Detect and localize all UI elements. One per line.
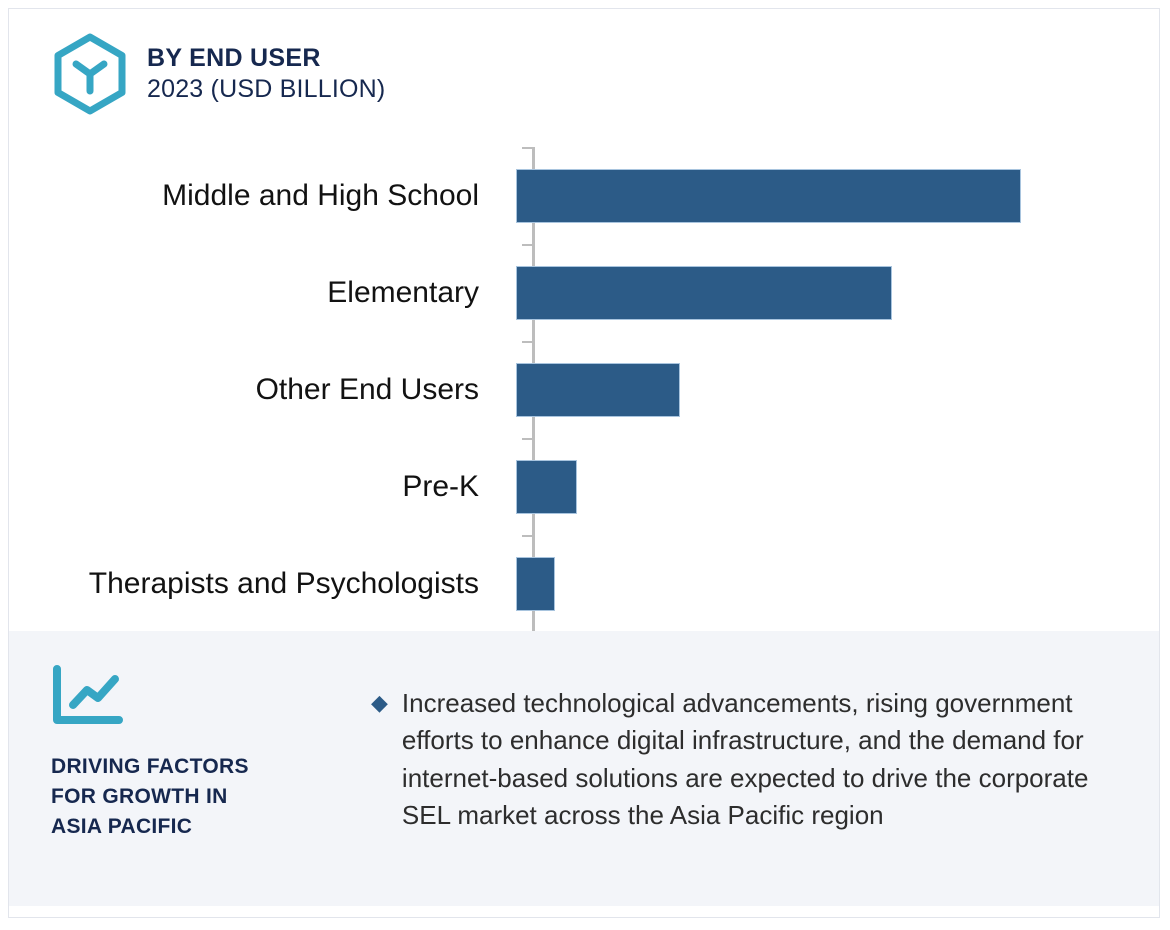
header-text-block: BY END USER 2023 (USD BILLION) xyxy=(147,33,385,104)
bar-track xyxy=(501,147,1160,244)
diamond-bullet-icon: ◆ xyxy=(371,685,388,906)
category-label: Pre-K xyxy=(9,470,501,503)
bar-row: Therapists and Psychologists xyxy=(9,535,1160,632)
panel-body-text: Increased technological advancements, ri… xyxy=(402,685,1111,906)
category-label: Therapists and Psychologists xyxy=(9,567,501,600)
line-chart-icon xyxy=(51,664,125,726)
bar-track xyxy=(501,535,1160,632)
bar-chart: Middle and High School Elementary Other … xyxy=(9,147,1160,637)
page-subtitle: 2023 (USD BILLION) xyxy=(147,74,385,105)
category-label: Middle and High School xyxy=(9,179,501,212)
chart-header: BY END USER 2023 (USD BILLION) xyxy=(51,33,385,115)
bar-row: Pre-K xyxy=(9,438,1160,535)
bar-row: Other End Users xyxy=(9,341,1160,438)
bar-track xyxy=(501,438,1160,535)
driving-factors-panel: DRIVING FACTORS FOR GROWTH IN ASIA PACIF… xyxy=(9,631,1160,906)
bar-value[interactable] xyxy=(516,266,892,320)
panel-heading-line: DRIVING FACTORS xyxy=(51,752,349,782)
bar-value[interactable] xyxy=(516,460,577,514)
bar-value[interactable] xyxy=(516,169,1021,223)
bar-track xyxy=(501,341,1160,438)
hexagon-y-icon xyxy=(51,33,129,115)
panel-heading-line: ASIA PACIFIC xyxy=(51,812,349,842)
page-title: BY END USER xyxy=(147,43,385,74)
bar-row: Elementary xyxy=(9,244,1160,341)
panel-left-column: DRIVING FACTORS FOR GROWTH IN ASIA PACIF… xyxy=(9,631,349,906)
category-label: Other End Users xyxy=(9,373,501,406)
panel-heading-line: FOR GROWTH IN xyxy=(51,782,349,812)
panel-right-column: ◆ Increased technological advancements, … xyxy=(349,631,1160,906)
bar-value[interactable] xyxy=(516,557,555,611)
bar-track xyxy=(501,244,1160,341)
bar-rows: Middle and High School Elementary Other … xyxy=(9,147,1160,633)
bar-value[interactable] xyxy=(516,363,680,417)
bar-row: Middle and High School xyxy=(9,147,1160,244)
panel-heading: DRIVING FACTORS FOR GROWTH IN ASIA PACIF… xyxy=(51,752,349,841)
infographic-card: BY END USER 2023 (USD BILLION) Middle an… xyxy=(8,8,1160,918)
category-label: Elementary xyxy=(9,276,501,309)
